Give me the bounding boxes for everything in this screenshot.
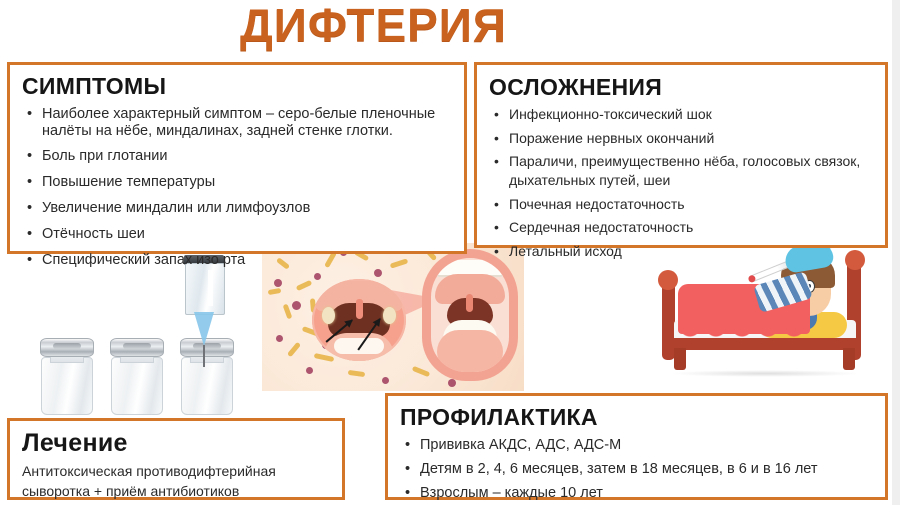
bullet-icon: • bbox=[405, 483, 410, 503]
vial-cap bbox=[40, 338, 94, 357]
list-item-text: Поражение нервных окончаний bbox=[509, 130, 714, 146]
list-item: •Детям в 2, 4, 6 месяцев, затем в 18 мес… bbox=[400, 459, 875, 479]
vaccine-vials-illustration bbox=[20, 255, 255, 415]
bacteria-coccus bbox=[306, 367, 313, 374]
syringe-needle bbox=[203, 345, 205, 367]
treatment-heading: Лечение bbox=[22, 429, 332, 457]
bacteria-rod bbox=[283, 304, 293, 320]
bullet-icon: • bbox=[494, 218, 499, 237]
bullet-icon: • bbox=[494, 195, 499, 214]
list-item: •Параличи, преимущественно нёба, голосов… bbox=[489, 152, 875, 190]
prevention-heading: ПРОФИЛАКТИКА bbox=[400, 403, 875, 431]
diphtheria-infographic-poster: ДИФТЕРИЯ bbox=[0, 0, 900, 505]
list-item: •Инфекционно-токсический шок bbox=[489, 105, 875, 124]
list-item-text: Параличи, преимущественно нёба, голосовы… bbox=[509, 153, 860, 188]
mouth-illustration bbox=[312, 279, 406, 361]
list-item-text: Увеличение миндалин или лимфоузлов bbox=[42, 200, 310, 216]
bacteria-rod bbox=[348, 370, 366, 377]
list-item: •Боль при глотании bbox=[22, 147, 454, 165]
treatment-body-text: Антитоксическая противодифтерийная сывор… bbox=[22, 461, 332, 501]
list-item-text: Сердечная недостаточность bbox=[509, 219, 693, 235]
list-item: •Увеличение миндалин или лимфоузлов bbox=[22, 199, 454, 217]
bed-frame bbox=[668, 338, 860, 350]
bullet-icon: • bbox=[27, 199, 32, 217]
bacteria-rod bbox=[287, 342, 301, 357]
list-item: •Взрослым – каждые 10 лет bbox=[400, 483, 875, 503]
bacteria-rod bbox=[296, 280, 313, 291]
bullet-icon: • bbox=[27, 251, 32, 269]
bullet-icon: • bbox=[27, 147, 32, 165]
bacteria-coccus bbox=[382, 377, 389, 384]
bed-shadow bbox=[670, 370, 860, 377]
bacteria-rod bbox=[268, 288, 282, 295]
uvula bbox=[466, 294, 473, 312]
uvula bbox=[356, 299, 363, 319]
symptoms-list: •Наиболее характерный симптом – серо-бел… bbox=[22, 106, 454, 269]
list-item: •Почечная недостаточность bbox=[489, 195, 875, 214]
bed-post-knob bbox=[658, 270, 678, 290]
bullet-icon: • bbox=[405, 459, 410, 479]
syringe-barrel bbox=[185, 263, 225, 315]
syringe-icon bbox=[175, 253, 237, 363]
list-item: •Поражение нервных окончаний bbox=[489, 129, 875, 148]
vial-glass bbox=[181, 357, 233, 415]
list-item-text: Детям в 2, 4, 6 месяцев, затем в 18 меся… bbox=[420, 461, 818, 477]
treatment-panel: Лечение Антитоксическая противодифтерийн… bbox=[7, 418, 345, 500]
list-item-text: Отёчность шеи bbox=[42, 226, 145, 242]
list-item: •Повышение температуры bbox=[22, 173, 454, 191]
complications-panel: ОСЛОЖНЕНИЯ •Инфекционно-токсический шок … bbox=[474, 62, 888, 248]
bullet-icon: • bbox=[27, 173, 32, 191]
bullet-icon: • bbox=[27, 106, 32, 123]
list-item-text: Повышение температуры bbox=[42, 174, 215, 190]
vial-cap bbox=[110, 338, 164, 357]
bullet-icon: • bbox=[494, 152, 499, 171]
vial-glass bbox=[41, 357, 93, 415]
vial-icon bbox=[108, 345, 164, 415]
list-item: •Сердечная недостаточность bbox=[489, 218, 875, 237]
vial-icon bbox=[38, 345, 94, 415]
list-item: •Летальный исход bbox=[489, 242, 875, 261]
list-item-text: Специфический запах изо рта bbox=[42, 252, 245, 268]
bullet-icon: • bbox=[405, 435, 410, 455]
list-item: •Наиболее характерный симптом – серо-бел… bbox=[22, 106, 454, 139]
bullet-icon: • bbox=[494, 242, 499, 261]
page-title: ДИФТЕРИЯ bbox=[240, 0, 540, 52]
bullet-icon: • bbox=[27, 225, 32, 243]
list-item-text: Взрослым – каждые 10 лет bbox=[420, 485, 603, 501]
prevention-list: •Прививка АКДС, АДС, АДС-М •Детям в 2, 4… bbox=[400, 435, 875, 503]
prevention-panel: ПРОФИЛАКТИКА •Прививка АКДС, АДС, АДС-М … bbox=[385, 393, 888, 500]
bed-leg bbox=[843, 348, 855, 370]
tongue bbox=[437, 330, 503, 372]
bullet-icon: • bbox=[494, 129, 499, 148]
bacteria-coccus bbox=[276, 335, 283, 342]
list-item: •Прививка АКДС, АДС, АДС-М bbox=[400, 435, 875, 455]
tonsil-plaque-right bbox=[383, 307, 396, 324]
list-item-text: Наиболее характерный симптом – серо-белы… bbox=[42, 106, 435, 139]
list-item-text: Прививка АКДС, АДС, АДС-М bbox=[420, 437, 621, 453]
tonsil-plaque-left bbox=[322, 307, 335, 324]
bullet-icon: • bbox=[494, 105, 499, 124]
list-item: •Отёчность шеи bbox=[22, 225, 454, 243]
complications-heading: ОСЛОЖНЕНИЯ bbox=[489, 73, 875, 101]
mouth-inner bbox=[431, 258, 509, 372]
symptoms-panel: СИМПТОМЫ •Наиболее характерный симптом –… bbox=[7, 62, 467, 254]
list-item: •Специфический запах изо рта bbox=[22, 251, 454, 269]
bed-leg bbox=[674, 348, 686, 370]
list-item-text: Инфекционно-токсический шок bbox=[509, 106, 712, 122]
complications-list: •Инфекционно-токсический шок •Поражение … bbox=[489, 105, 875, 261]
list-item-text: Почечная недостаточность bbox=[509, 196, 685, 212]
bacteria-coccus bbox=[292, 301, 301, 310]
vial-glass bbox=[111, 357, 163, 415]
list-item-text: Летальный исход bbox=[509, 243, 622, 259]
bacteria-coccus bbox=[274, 279, 282, 287]
syringe-cone bbox=[194, 312, 214, 346]
right-edge-strip bbox=[892, 0, 900, 505]
list-item-text: Боль при глотании bbox=[42, 148, 167, 164]
symptoms-heading: СИМПТОМЫ bbox=[22, 72, 454, 100]
